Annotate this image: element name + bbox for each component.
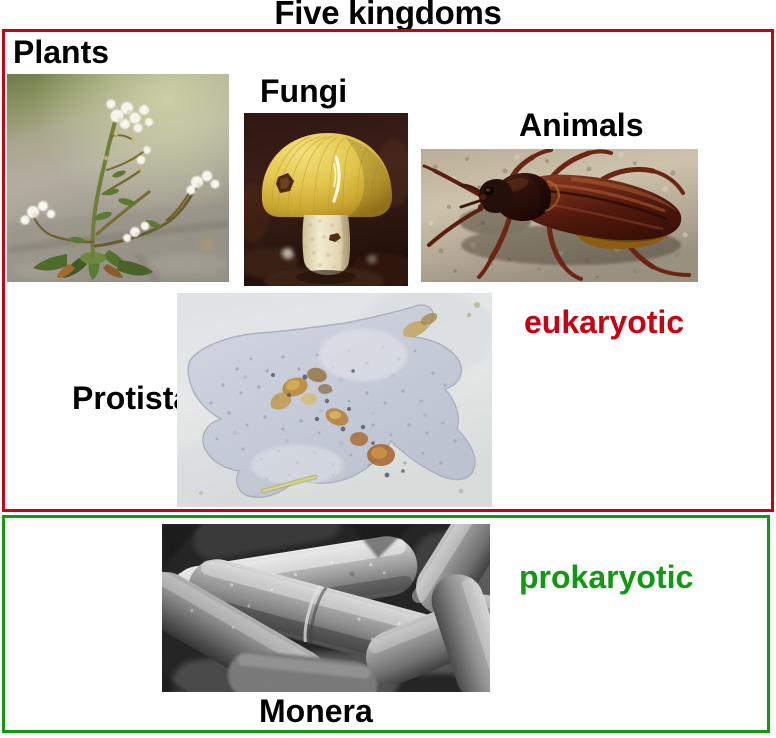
kingdom-label-plants: Plants (13, 35, 109, 69)
bacteria-sem-micrograph (162, 524, 490, 692)
flowering-plant-photo (7, 74, 229, 282)
yellow-mushroom-photo (244, 113, 408, 286)
five-kingdoms-figure: Five kingdoms Plants (0, 0, 776, 738)
kingdom-label-protista: Protista (72, 381, 191, 415)
cell-type-label-eukaryotic: eukaryotic (524, 305, 684, 339)
kingdom-label-monera: Monera (259, 694, 373, 728)
cell-type-label-prokaryotic: prokaryotic (519, 560, 693, 594)
amoeba-micrograph (177, 293, 492, 507)
kingdom-label-animals: Animals (519, 108, 643, 142)
kingdom-label-fungi: Fungi (260, 74, 347, 108)
beetle-photo (421, 149, 698, 282)
